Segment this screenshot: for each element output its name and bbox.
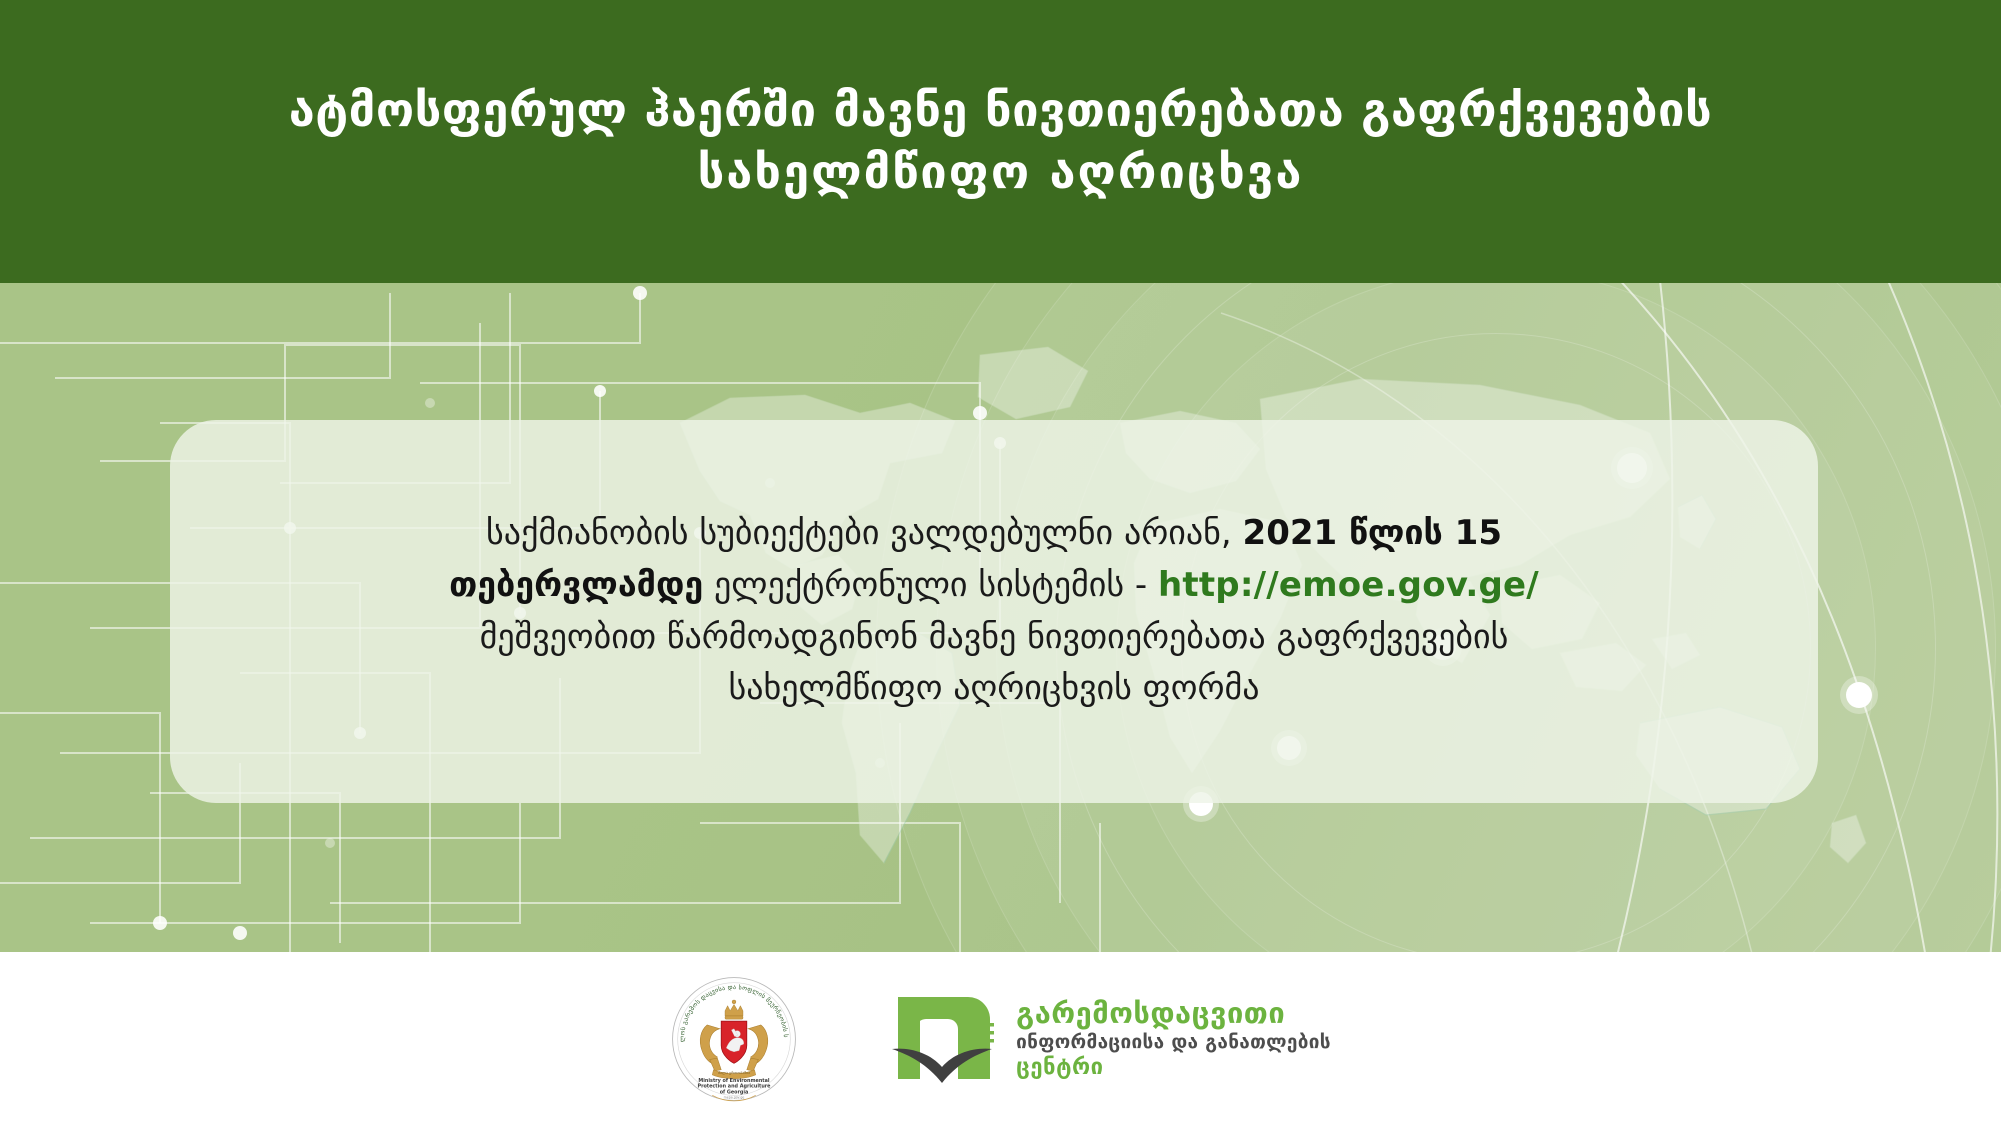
eiec-line2: ინფორმაციისა და განათლების [1016, 1032, 1331, 1054]
header-title-line2: სახელმწიფო აღრიცხვა [698, 144, 1304, 201]
seal-latin-line1: Ministry of Environmental [699, 1077, 770, 1083]
emoe-portal-link[interactable]: http://emoe.gov.ge/ [1158, 565, 1539, 605]
open-book-leaf-icon [890, 987, 1002, 1091]
seal-latin-line3: of Georgia [720, 1089, 749, 1095]
card-line2-bold: თებერვლამდე [449, 565, 703, 605]
ministry-seal-logo: საქართველოს გარემოს დაცვისა და სოფლის მე… [670, 975, 798, 1103]
banner-footer: საქართველოს გარემოს დაცვისა და სოფლის მე… [0, 952, 2001, 1125]
seal-latin-line2: Protection and Agriculture [698, 1083, 772, 1089]
eiec-wordmark: გარემოსდაცვითი ინფორმაციისა და განათლები… [1016, 997, 1331, 1080]
announcement-card: საქმიანობის სუბიექტები ვალდებულნი არიან,… [170, 420, 1818, 803]
card-line3: მეშვეობით წარმოადგინონ მავნე ნივთიერებათ… [480, 617, 1509, 657]
announcement-banner: ატმოსფერულ ჰაერში მავნე ნივთიერებათა გაფ… [0, 0, 2001, 1125]
card-line4: სახელმწიფო აღრიცხვის ფორმა [728, 668, 1259, 708]
svg-text:ძალა ერთობაშია: ძალა ერთობაშია [718, 1070, 750, 1075]
seal-latin-line4: mepa.gov.ge [724, 1095, 745, 1099]
card-line1-bold: 2021 წლის 15 [1243, 513, 1502, 553]
eiec-logo: გარემოსდაცვითი ინფორმაციისა და განათლები… [890, 987, 1331, 1091]
header-title-line1: ატმოსფერულ ჰაერში მავნე ნივთიერებათა გაფ… [289, 82, 1713, 139]
card-line2-normal: ელექტრონული სისტემის - [703, 565, 1158, 605]
banner-header: ატმოსფერულ ჰაერში მავნე ნივთიერებათა გაფ… [0, 0, 2001, 283]
eiec-line1: გარემოსდაცვითი [1016, 997, 1331, 1030]
map-pin-australia [1846, 682, 1872, 708]
announcement-text: საქმიანობის სუბიექტები ვალდებულნი არიან,… [449, 508, 1539, 715]
eiec-line3: ცენტრი [1016, 1055, 1331, 1080]
card-line1-normal: საქმიანობის სუბიექტები ვალდებულნი არიან, [486, 513, 1243, 553]
